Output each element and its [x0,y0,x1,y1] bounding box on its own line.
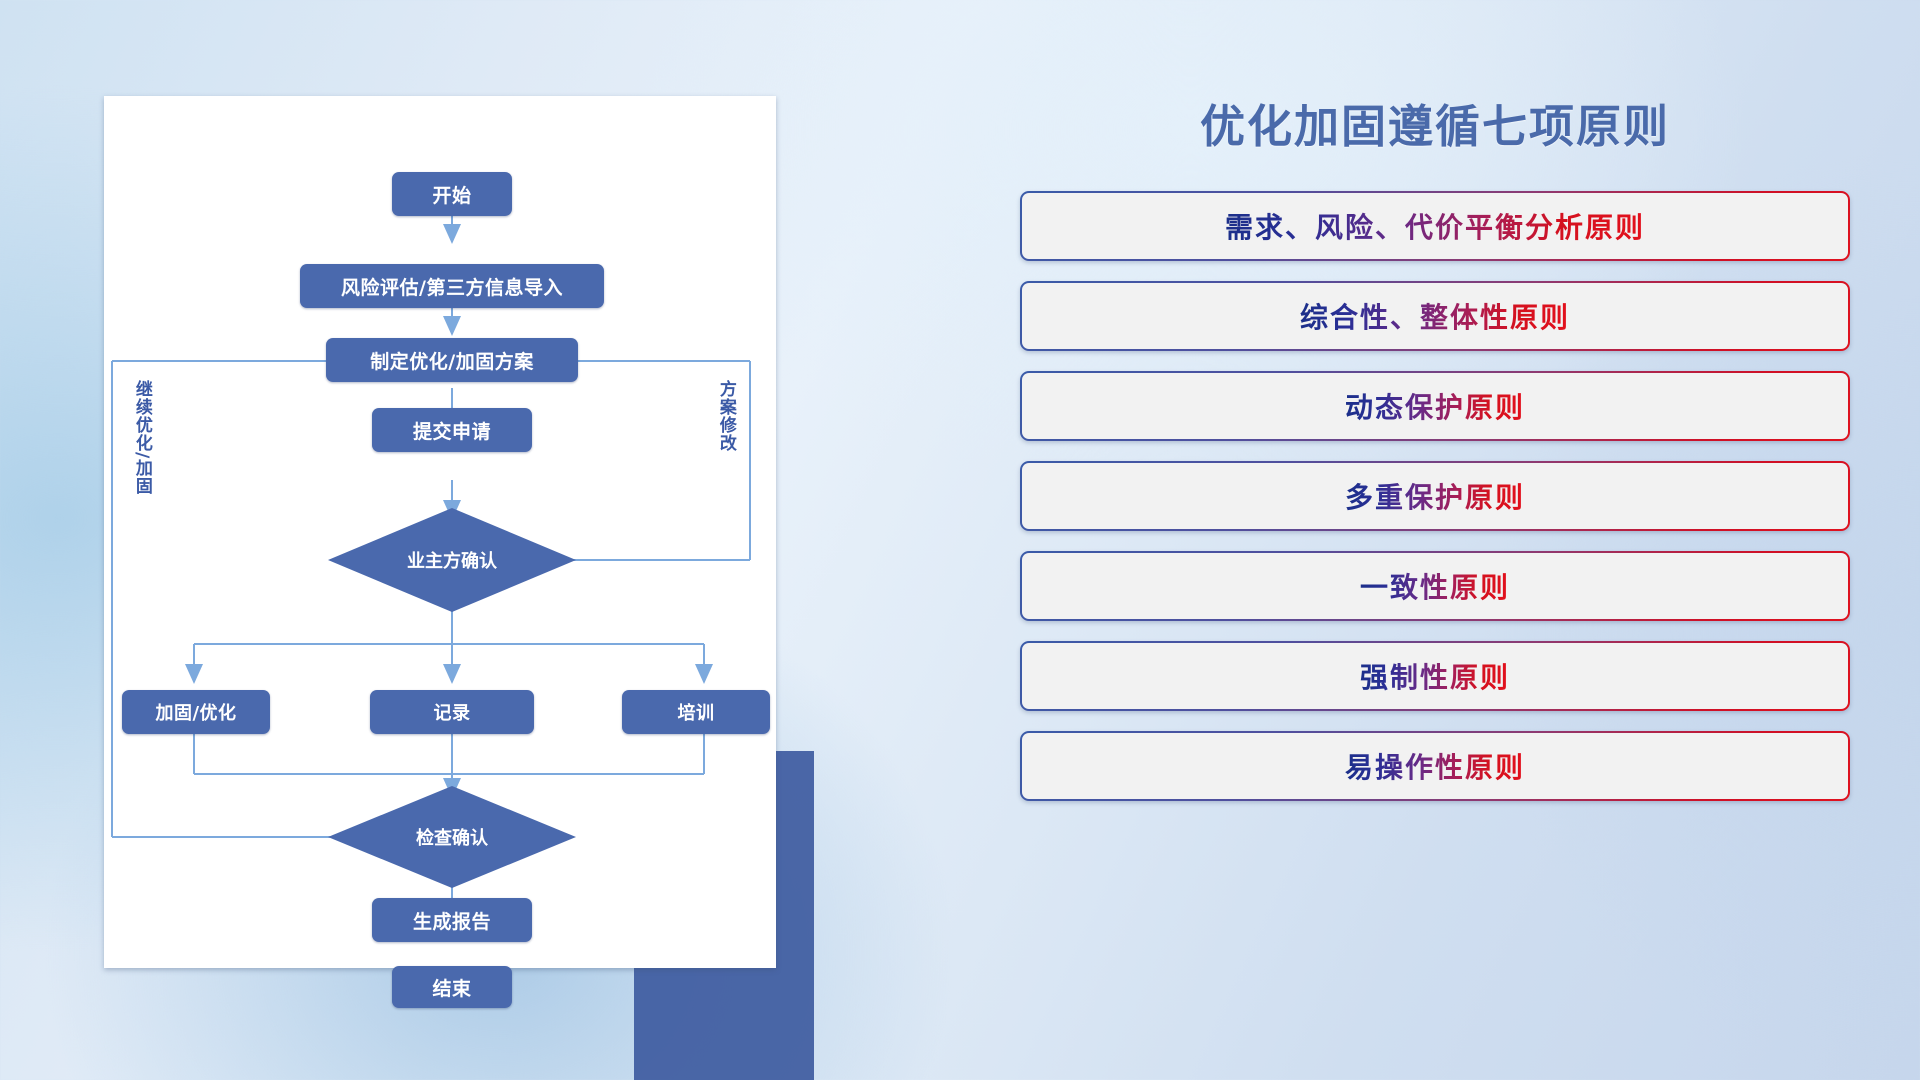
flowchart-card: 开始 风险评估/第三方信息导入 制定优化/加固方案 提交申请 业主方确认 加固/… [104,96,776,968]
principle-item-6[interactable]: 强制性原则 [1020,641,1850,711]
flow-node-report[interactable]: 生成报告 [372,898,532,942]
flow-node-start[interactable]: 开始 [392,172,512,216]
flow-node-plan-label: 制定优化/加固方案 [370,347,533,374]
flow-node-risk-assessment-label: 风险评估/第三方信息导入 [341,273,563,300]
principle-item-3-label: 动态保护原则 [1345,386,1525,426]
principle-item-1[interactable]: 需求、风险、代价平衡分析原则 [1020,191,1850,261]
principles-title: 优化加固遵循七项原则 [1020,90,1850,155]
flowchart-panel: 开始 风险评估/第三方信息导入 制定优化/加固方案 提交申请 业主方确认 加固/… [104,96,784,996]
principles-panel: 优化加固遵循七项原则 需求、风险、代价平衡分析原则 综合性、整体性原则 动态保护… [1020,90,1850,1020]
principle-item-5-inner: 一致性原则 [1022,553,1848,619]
flow-node-submit[interactable]: 提交申请 [372,408,532,452]
flow-node-training[interactable]: 培训 [622,690,770,734]
principle-item-2-inner: 综合性、整体性原则 [1022,283,1848,349]
flow-node-end-label: 结束 [432,974,471,1001]
principle-item-6-label: 强制性原则 [1360,656,1510,696]
flow-node-record-label: 记录 [434,699,471,725]
flow-node-report-label: 生成报告 [413,907,491,934]
principle-item-6-inner: 强制性原则 [1022,643,1848,709]
principle-item-7[interactable]: 易操作性原则 [1020,731,1850,801]
flow-node-start-label: 开始 [432,181,471,208]
flow-node-plan[interactable]: 制定优化/加固方案 [326,338,578,382]
flow-node-check-confirm-label: 检查确认 [416,824,488,850]
flow-node-submit-label: 提交申请 [413,417,491,444]
principle-item-1-inner: 需求、风险、代价平衡分析原则 [1022,193,1848,259]
principle-item-7-label: 易操作性原则 [1345,746,1525,786]
principle-item-3[interactable]: 动态保护原则 [1020,371,1850,441]
principle-item-1-label: 需求、风险、代价平衡分析原则 [1225,206,1645,246]
principle-item-2-label: 综合性、整体性原则 [1300,296,1570,336]
principle-item-5[interactable]: 一致性原则 [1020,551,1850,621]
principle-item-7-inner: 易操作性原则 [1022,733,1848,799]
flow-node-reinforce[interactable]: 加固/优化 [122,690,270,734]
flow-node-record[interactable]: 记录 [370,690,534,734]
principle-item-2[interactable]: 综合性、整体性原则 [1020,281,1850,351]
principle-item-5-label: 一致性原则 [1360,566,1510,606]
principle-item-4[interactable]: 多重保护原则 [1020,461,1850,531]
flow-node-training-label: 培训 [678,699,715,725]
flow-edge-label-continue-optimize: 继续优化/加固 [132,380,150,580]
flow-node-owner-confirm[interactable]: 业主方确认 [328,508,576,612]
principle-item-4-inner: 多重保护原则 [1022,463,1848,529]
flow-node-risk-assessment[interactable]: 风险评估/第三方信息导入 [300,264,604,308]
flow-node-end[interactable]: 结束 [392,966,512,1008]
principle-item-3-inner: 动态保护原则 [1022,373,1848,439]
flow-node-check-confirm[interactable]: 检查确认 [328,786,576,888]
principle-item-4-label: 多重保护原则 [1345,476,1525,516]
flow-node-owner-confirm-label: 业主方确认 [407,547,497,573]
flow-edge-label-plan-revision: 方案修改 [716,380,734,530]
flow-node-reinforce-label: 加固/优化 [155,699,236,725]
